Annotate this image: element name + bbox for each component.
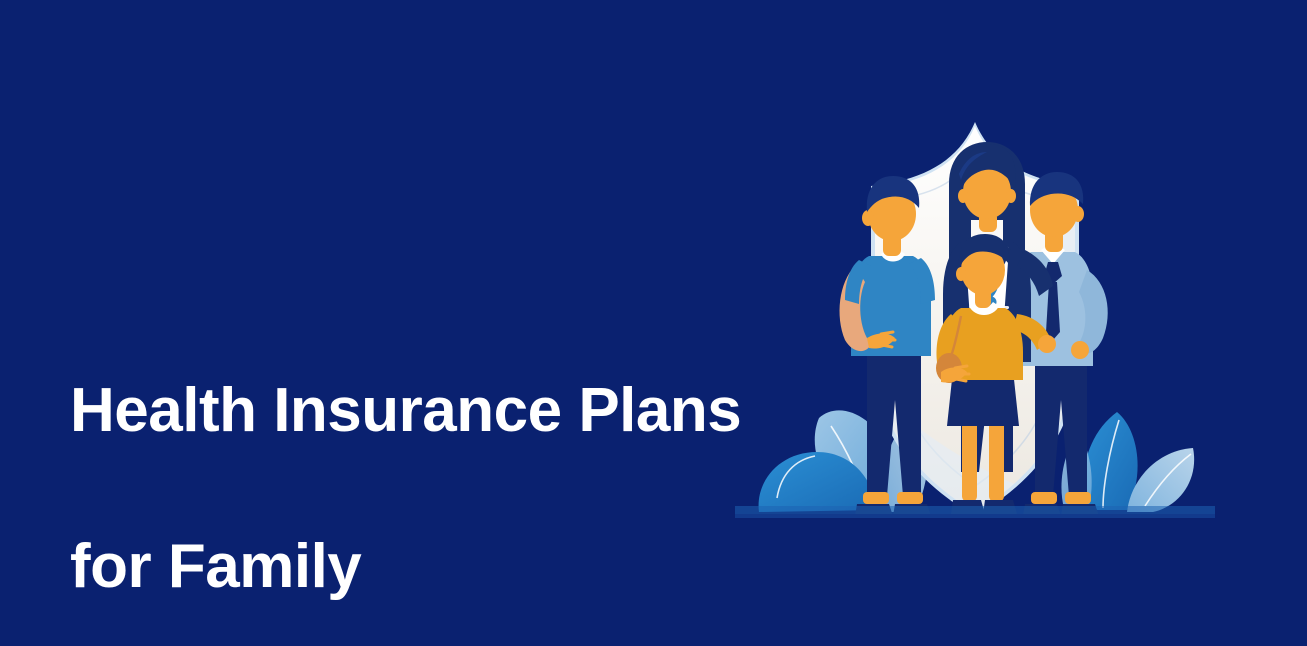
teen-ear (862, 210, 874, 226)
girl-leg-left (962, 420, 977, 502)
girl-hand-right (1038, 335, 1056, 353)
teen-ankle-right (897, 492, 923, 504)
family-group (840, 142, 1108, 516)
page-title-line-2: for Family (70, 528, 790, 606)
girl-leg-right (989, 420, 1004, 502)
father-ankle-left (1031, 492, 1057, 504)
page-title-line-1: Health Insurance Plans (70, 372, 790, 450)
leaf-right-upper (1083, 412, 1137, 510)
father-ankle-right (1065, 492, 1091, 504)
girl-ear (956, 267, 966, 281)
mother-ear-left (958, 189, 968, 203)
family-protected-by-shield-illustration (735, 100, 1215, 540)
ground-line-group (735, 506, 1215, 540)
ground-accent (735, 506, 1215, 514)
page-title: Health Insurance Plans for Family (70, 294, 790, 646)
ground-base (735, 518, 1215, 540)
father-hand-right (1071, 341, 1089, 359)
teen-ankle-left (863, 492, 889, 504)
father-ear (1072, 206, 1084, 222)
health-insurance-banner: Health Insurance Plans for Family (0, 0, 1307, 646)
ground-line (735, 514, 1215, 518)
mother-ear-right (1006, 189, 1016, 203)
